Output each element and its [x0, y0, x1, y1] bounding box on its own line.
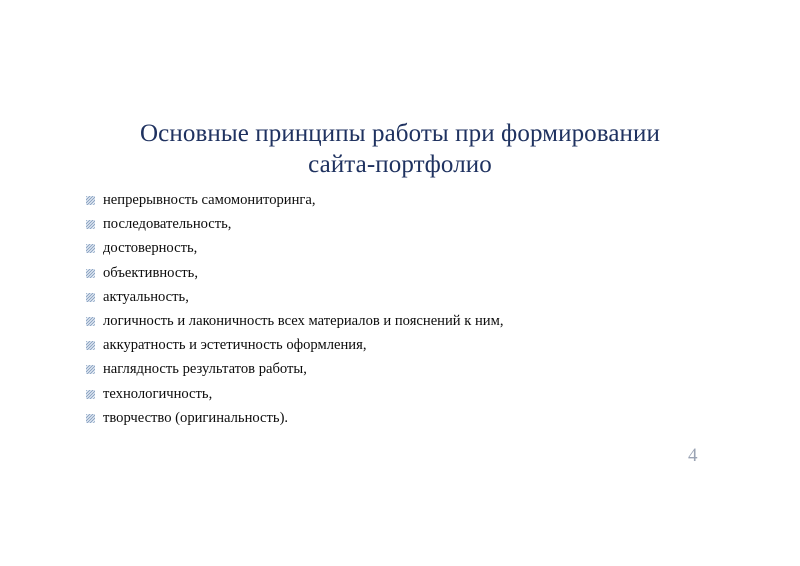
list-item-label: наглядность результатов работы,: [103, 359, 307, 380]
list-item: последовательность,: [86, 214, 746, 238]
hatched-square-bullet-icon: [86, 365, 95, 374]
hatched-square-bullet-icon: [86, 390, 95, 399]
list-item: логичность и лаконичность всех материало…: [86, 311, 746, 335]
list-item: достоверность,: [86, 238, 746, 262]
list-item-label: актуальность,: [103, 287, 189, 308]
list-item: актуальность,: [86, 287, 746, 311]
hatched-square-bullet-icon: [86, 293, 95, 302]
list-item: творчество (оригинальность).: [86, 408, 746, 432]
list-item: технологичность,: [86, 384, 746, 408]
list-item-label: достоверность,: [103, 238, 197, 259]
slide-title: Основные принципы работы при формировани…: [95, 118, 705, 180]
hatched-square-bullet-icon: [86, 341, 95, 350]
hatched-square-bullet-icon: [86, 317, 95, 326]
hatched-square-bullet-icon: [86, 196, 95, 205]
list-item-label: творчество (оригинальность).: [103, 408, 288, 429]
slide-title-line-2: сайта-портфолио: [95, 149, 705, 180]
slide-canvas: Основные принципы работы при формировани…: [0, 0, 800, 566]
list-item-label: логичность и лаконичность всех материало…: [103, 311, 504, 332]
list-item: наглядность результатов работы,: [86, 359, 746, 383]
list-item-label: непрерывность самомониторинга,: [103, 190, 316, 211]
hatched-square-bullet-icon: [86, 220, 95, 229]
hatched-square-bullet-icon: [86, 414, 95, 423]
list-item-label: объективность,: [103, 263, 198, 284]
principles-bullet-list: непрерывность самомониторинга, последова…: [86, 190, 746, 432]
page-number: 4: [688, 445, 698, 467]
hatched-square-bullet-icon: [86, 244, 95, 253]
list-item: аккуратность и эстетичность оформления,: [86, 335, 746, 359]
list-item-label: технологичность,: [103, 384, 212, 405]
list-item-label: аккуратность и эстетичность оформления,: [103, 335, 366, 356]
list-item: непрерывность самомониторинга,: [86, 190, 746, 214]
list-item-label: последовательность,: [103, 214, 231, 235]
hatched-square-bullet-icon: [86, 269, 95, 278]
slide-title-line-1: Основные принципы работы при формировани…: [95, 118, 705, 149]
list-item: объективность,: [86, 263, 746, 287]
